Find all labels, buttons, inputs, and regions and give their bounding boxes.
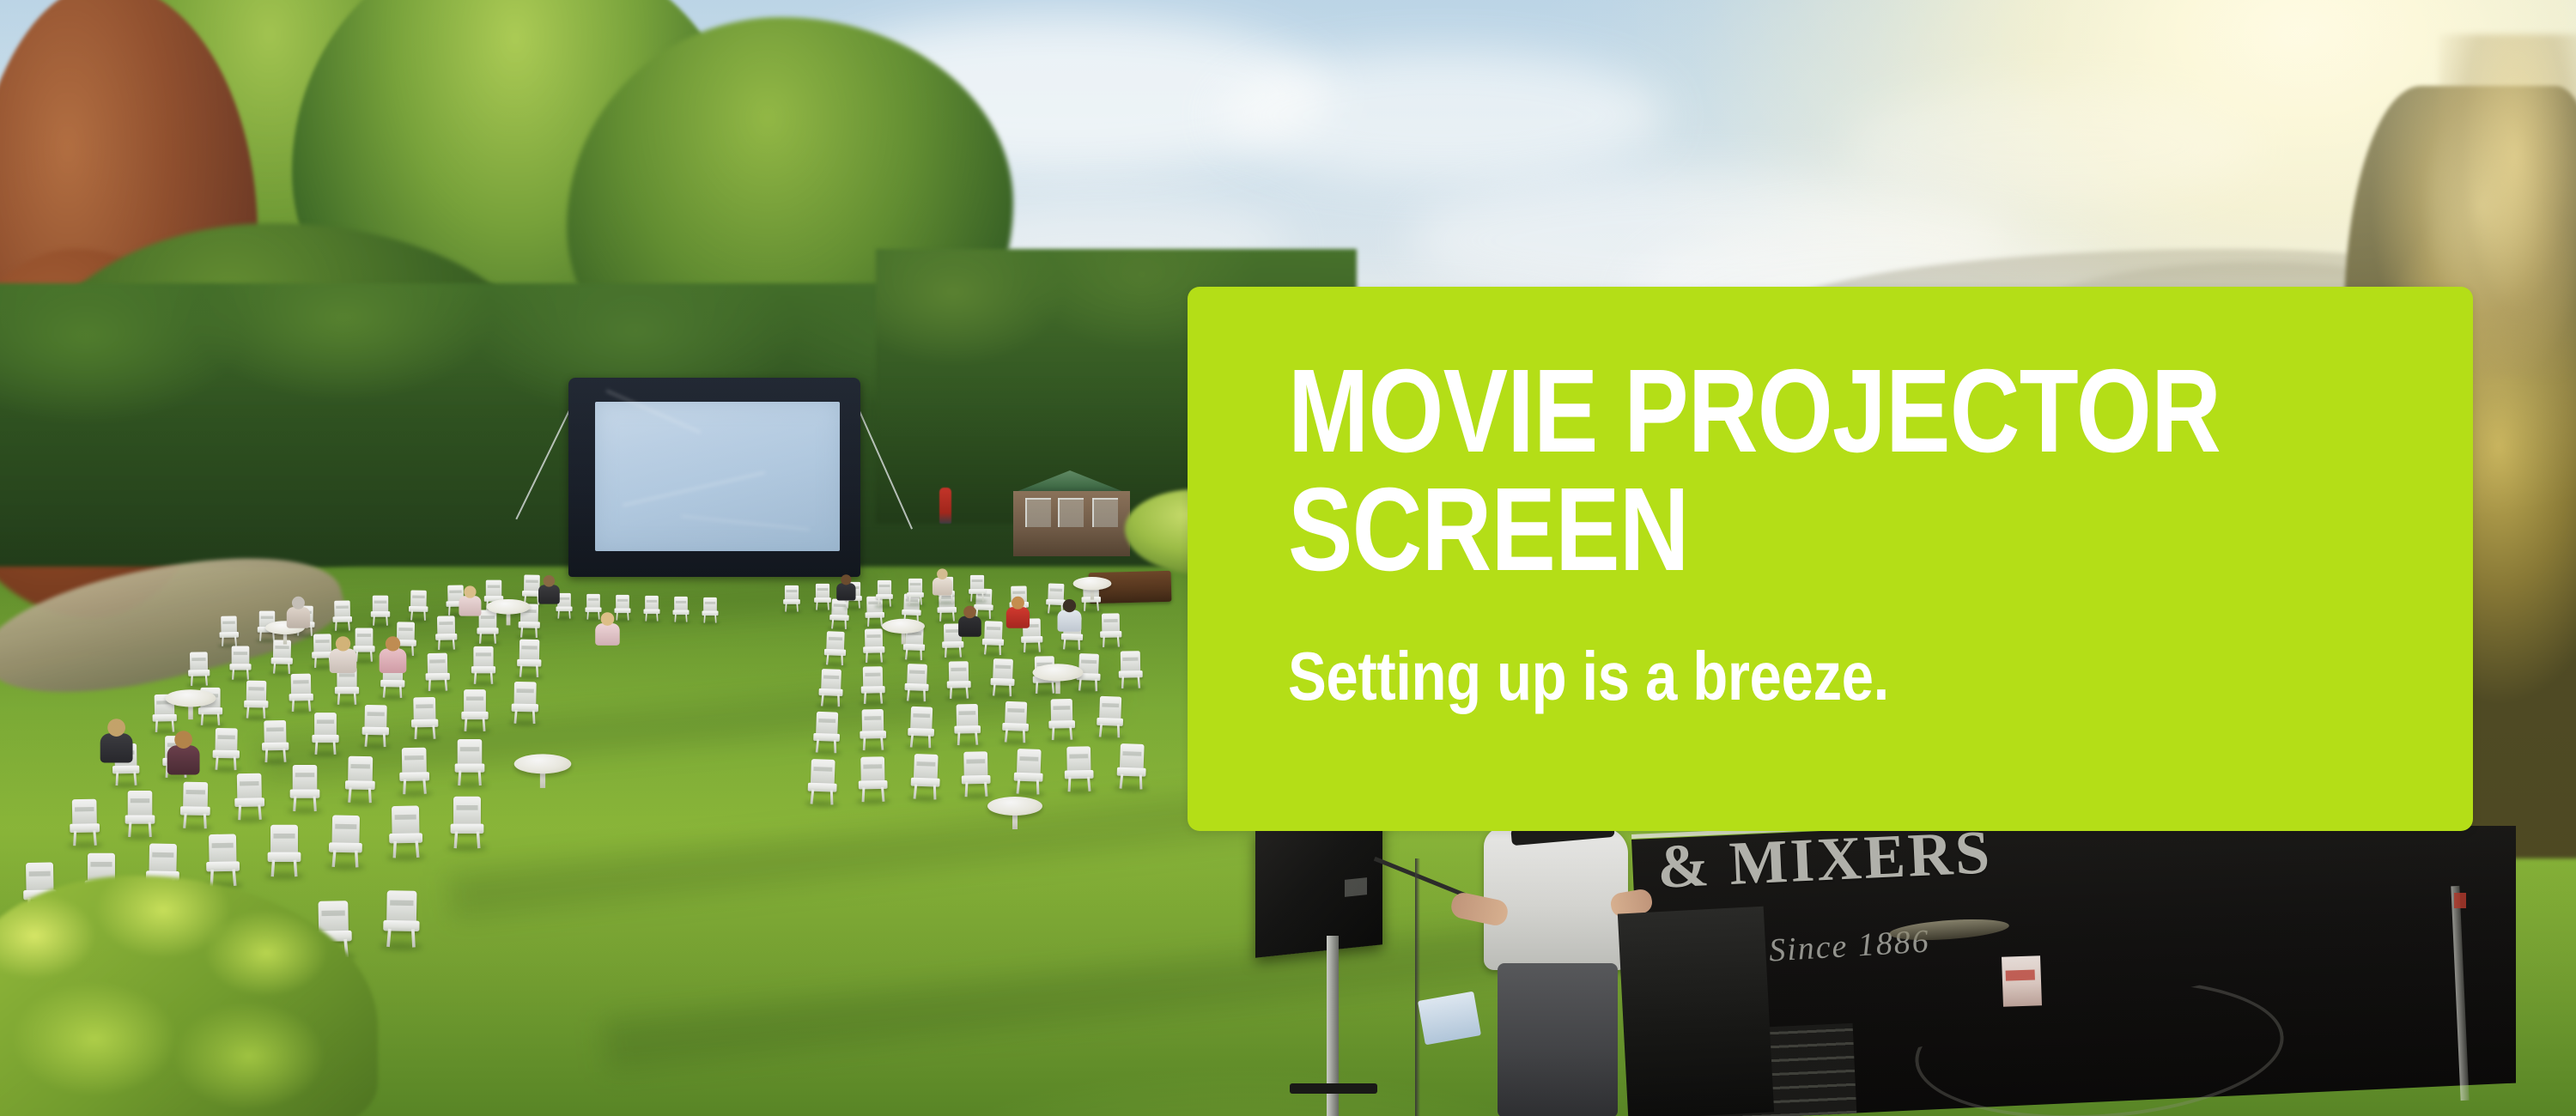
- chair-back: [215, 728, 237, 752]
- chair-leg: [1117, 725, 1120, 737]
- inflatable-movie-screen: [568, 378, 860, 577]
- chair-back: [703, 597, 717, 612]
- chair-leg: [951, 595, 952, 603]
- folding-chair: [290, 765, 320, 810]
- chair-leg: [536, 665, 538, 677]
- chair-back: [264, 720, 286, 744]
- chair-back: [221, 616, 237, 634]
- chair-back: [1017, 749, 1042, 775]
- guest-head: [601, 612, 615, 626]
- seated-guest: [957, 606, 981, 635]
- chair-leg: [490, 672, 493, 684]
- guest-head: [174, 731, 192, 749]
- chair-leg: [685, 614, 687, 622]
- chair-back: [914, 754, 939, 780]
- cocktail-table: [882, 619, 925, 646]
- chair-leg: [415, 840, 419, 858]
- page-title: MOVIE PROJECTOR SCREEN: [1288, 352, 2232, 589]
- guest-body: [1058, 610, 1082, 632]
- chair-leg: [217, 713, 220, 725]
- folding-chair: [946, 661, 971, 698]
- chair-back: [907, 664, 927, 685]
- chair-back: [645, 596, 659, 610]
- guest-body: [836, 583, 855, 600]
- chair-back: [993, 658, 1013, 680]
- chair-back: [473, 646, 493, 668]
- trailer-red-marker: [2454, 893, 2466, 908]
- chair-back: [355, 628, 374, 647]
- chair-leg: [1137, 676, 1140, 688]
- chair-back: [908, 579, 922, 593]
- folding-chair: [289, 674, 313, 712]
- guest-body: [167, 745, 200, 774]
- guest-body: [100, 733, 133, 762]
- chair-back: [1005, 701, 1027, 725]
- folding-chair: [860, 666, 885, 703]
- chair-back: [821, 669, 841, 690]
- chair-leg: [879, 692, 883, 704]
- chair-leg: [975, 731, 978, 744]
- folding-chair: [244, 681, 269, 719]
- guest-body: [958, 616, 981, 637]
- mic-stand-pole: [1415, 858, 1420, 1116]
- chair-leg: [928, 735, 931, 748]
- cocktail-table: [166, 689, 216, 721]
- folding-chair: [1118, 651, 1143, 688]
- folding-chair: [345, 756, 376, 803]
- guest-head: [292, 597, 305, 610]
- folding-chair: [981, 621, 1004, 654]
- chair-leg: [453, 639, 455, 650]
- seated-guest: [931, 568, 952, 594]
- chair-back: [1051, 699, 1073, 722]
- folding-chair: [399, 748, 430, 794]
- chair-leg: [1078, 639, 1080, 650]
- guest-head: [544, 575, 556, 587]
- chair-leg: [999, 644, 1001, 655]
- chair-leg: [1087, 777, 1091, 792]
- cocktail-table: [486, 599, 530, 627]
- chair-back: [149, 843, 177, 873]
- folding-chair: [229, 646, 251, 679]
- standing-person: [939, 488, 951, 524]
- chair-leg: [1038, 641, 1041, 652]
- chair-back: [970, 575, 984, 590]
- chair-back: [1121, 651, 1140, 672]
- chair-back: [183, 782, 208, 809]
- chair-leg: [627, 612, 629, 621]
- guest-head: [1063, 599, 1076, 612]
- shed-window: [1092, 498, 1118, 527]
- folding-chair: [1116, 743, 1146, 789]
- chair-leg: [133, 772, 137, 785]
- chair-back: [237, 773, 262, 800]
- chair-leg: [880, 652, 883, 663]
- screen-wrinkle: [623, 471, 765, 506]
- guest-head: [107, 719, 125, 737]
- folding-chair: [329, 815, 363, 866]
- folding-chair: [818, 669, 843, 707]
- chair-leg: [1095, 679, 1097, 691]
- chair-leg: [234, 756, 237, 770]
- bottle-label: [2002, 955, 2042, 1007]
- chair-back: [586, 594, 600, 609]
- chair-leg: [1069, 726, 1072, 739]
- chair-leg: [386, 616, 388, 625]
- chair-leg: [370, 651, 373, 662]
- chair-leg: [411, 645, 414, 656]
- seated-guest: [593, 612, 620, 644]
- guest-head: [937, 568, 948, 579]
- folding-chair: [1100, 613, 1122, 646]
- chair-back: [863, 666, 883, 688]
- seated-guest: [328, 636, 358, 671]
- chair-leg: [232, 869, 236, 886]
- chair-leg: [568, 610, 570, 619]
- folding-chair: [219, 616, 239, 646]
- folding-chair: [858, 756, 888, 801]
- engineer-trousers: [1498, 963, 1618, 1116]
- chair-back: [519, 640, 540, 661]
- folding-chair: [1064, 746, 1094, 791]
- folding-chair: [268, 825, 301, 876]
- seated-guest: [835, 574, 856, 599]
- chair-back: [1099, 696, 1121, 720]
- chair-back: [246, 681, 267, 702]
- chair-leg: [313, 797, 317, 812]
- chair-leg: [881, 787, 884, 802]
- chair-leg: [494, 633, 496, 644]
- chair-leg: [532, 710, 536, 724]
- chair-leg: [933, 785, 937, 800]
- chair-leg: [827, 602, 829, 610]
- chair-leg: [959, 646, 962, 658]
- chair-back: [319, 901, 349, 933]
- chair-leg: [714, 615, 716, 623]
- folding-chair: [807, 759, 837, 804]
- folding-chair: [188, 652, 210, 685]
- chair-leg: [423, 611, 426, 621]
- seated-guest: [285, 597, 311, 627]
- chair-leg: [830, 791, 834, 805]
- folding-chair: [1013, 749, 1043, 794]
- folding-chair: [783, 585, 800, 611]
- folding-chair: [904, 664, 929, 701]
- chair-leg: [920, 597, 921, 605]
- chair-leg: [841, 654, 843, 665]
- cocktail-table: [1033, 664, 1084, 695]
- chair-leg: [880, 737, 884, 749]
- folding-chair: [1048, 699, 1075, 739]
- chair-leg: [1139, 775, 1143, 790]
- chair-leg: [368, 788, 372, 803]
- chair-leg: [796, 603, 798, 612]
- folding-chair: [961, 751, 991, 796]
- chair-leg: [965, 687, 969, 699]
- chair-leg: [984, 782, 987, 797]
- chair-leg: [246, 669, 249, 680]
- chair-leg: [308, 699, 312, 711]
- chair-leg: [348, 621, 350, 630]
- page-subtitle: Setting up is a breeze.: [1288, 642, 2255, 711]
- chair-leg: [288, 663, 290, 674]
- chair-leg: [354, 693, 356, 705]
- chair-leg: [258, 804, 262, 820]
- chair-leg: [858, 600, 860, 609]
- chair-leg: [422, 779, 427, 794]
- chair-back: [826, 631, 844, 651]
- chair-back: [209, 834, 237, 864]
- chair-back: [413, 697, 435, 721]
- shed-roof: [999, 470, 1140, 493]
- chair-back: [428, 653, 448, 675]
- chair-leg: [411, 929, 416, 947]
- table-top: [882, 619, 925, 634]
- guest-head: [1012, 597, 1024, 610]
- chair-leg: [1023, 730, 1025, 743]
- folding-chair: [823, 631, 846, 664]
- chair-back: [616, 595, 629, 610]
- chair-leg: [981, 593, 983, 602]
- shed-window: [1025, 498, 1051, 527]
- folding-chair: [907, 579, 924, 604]
- chair-back: [26, 862, 54, 892]
- guest-body: [380, 648, 407, 673]
- folding-chair: [455, 739, 485, 785]
- chair-back: [860, 756, 884, 782]
- chair-back: [348, 756, 373, 783]
- chair-back: [334, 601, 350, 618]
- chair-leg: [399, 686, 402, 698]
- chair-back: [331, 815, 360, 845]
- table-top: [1033, 664, 1084, 681]
- chair-back: [963, 751, 987, 777]
- chair-back: [816, 584, 829, 598]
- guest-body: [330, 648, 357, 673]
- chair-back: [402, 748, 427, 774]
- chair-back: [1120, 743, 1145, 770]
- promo-panel: MOVIE PROJECTOR SCREEN Setting up is a b…: [1188, 287, 2473, 831]
- chair-back: [410, 591, 427, 608]
- chair-leg: [234, 636, 237, 646]
- folding-chair: [234, 773, 265, 820]
- folding-chair: [954, 704, 981, 744]
- chair-back: [1102, 613, 1120, 633]
- chair-leg: [204, 814, 207, 828]
- chair-leg: [149, 822, 152, 838]
- chair-back: [291, 674, 312, 695]
- chair-back: [386, 890, 416, 923]
- cocktail-table: [1073, 577, 1112, 601]
- folding-chair: [389, 805, 423, 857]
- chair-back: [190, 652, 208, 671]
- chair-back: [128, 791, 153, 817]
- chair-back: [392, 805, 420, 835]
- folding-chair: [332, 600, 352, 630]
- seated-guest: [165, 731, 200, 773]
- folding-chair: [814, 584, 831, 610]
- promo-panel-content: MOVIE PROJECTOR SCREEN Setting up is a b…: [1288, 352, 2439, 711]
- pa-speaker: [1255, 817, 1382, 958]
- chair-back: [910, 707, 933, 731]
- folding-chair: [312, 713, 338, 754]
- guest-body: [459, 596, 481, 616]
- folding-chair: [125, 791, 155, 836]
- chair-leg: [483, 718, 486, 731]
- folding-chair: [361, 705, 389, 746]
- shed-body: [1013, 491, 1130, 556]
- shed-window: [1058, 498, 1084, 527]
- table-top: [514, 754, 572, 773]
- guest-body: [595, 623, 620, 646]
- folding-chair: [643, 596, 659, 621]
- chair-back: [314, 713, 337, 737]
- table-top: [486, 599, 530, 615]
- chair-leg: [920, 649, 922, 660]
- chair-leg: [889, 598, 890, 607]
- av-equipment: [1618, 907, 1774, 1116]
- folding-chair: [990, 658, 1015, 696]
- guest-head: [963, 606, 976, 619]
- chair-back: [878, 580, 891, 595]
- chair-leg: [355, 851, 358, 868]
- folding-chair: [517, 640, 542, 677]
- folding-chair: [702, 597, 718, 622]
- folding-chair: [860, 709, 886, 749]
- screen-wrinkle: [681, 515, 809, 531]
- chair-leg: [205, 675, 208, 686]
- engineer-shirt: [1484, 828, 1628, 970]
- chair-back: [270, 825, 298, 854]
- cocktail-table: [514, 754, 572, 790]
- chair-back: [453, 797, 481, 826]
- guest-head: [386, 636, 400, 651]
- chair-leg: [383, 733, 386, 747]
- chair-back: [957, 704, 979, 727]
- chair-back: [72, 799, 97, 826]
- folding-chair: [425, 653, 450, 691]
- table-top: [987, 797, 1042, 816]
- chair-back: [1048, 583, 1064, 600]
- chair-leg: [535, 627, 538, 638]
- chair-leg: [294, 860, 298, 877]
- folding-chair: [461, 689, 488, 731]
- chair-leg: [333, 741, 337, 755]
- chair-leg: [656, 613, 658, 622]
- chair-leg: [845, 620, 847, 629]
- chair-leg: [834, 740, 836, 753]
- chair-back: [458, 739, 483, 766]
- folding-chair: [876, 580, 893, 606]
- folding-chair: [813, 712, 841, 753]
- chair-leg: [989, 610, 991, 619]
- folding-chair: [262, 720, 289, 761]
- guest-body: [538, 585, 560, 603]
- table-top: [166, 689, 216, 707]
- chair-back: [293, 765, 318, 792]
- chair-back: [464, 689, 486, 713]
- folding-chair: [969, 575, 986, 601]
- cocktail-table: [987, 797, 1042, 831]
- guest-head: [336, 636, 350, 651]
- folding-chair: [511, 682, 538, 723]
- chair-back: [513, 682, 536, 706]
- chair-leg: [263, 707, 265, 719]
- seated-guest: [98, 719, 133, 761]
- chair-back: [949, 661, 969, 682]
- guest-body: [933, 578, 952, 596]
- folding-chair: [371, 596, 390, 625]
- seated-guest: [537, 575, 560, 603]
- chair-leg: [432, 725, 435, 739]
- guest-head: [841, 574, 851, 585]
- folding-chair: [672, 597, 689, 622]
- chair-back: [437, 616, 455, 635]
- seated-guest: [458, 585, 483, 615]
- chair-back: [816, 712, 838, 736]
- folding-chair: [451, 797, 484, 847]
- folding-chair: [409, 590, 428, 620]
- folding-chair: [411, 697, 439, 738]
- chair-back: [674, 597, 688, 611]
- folding-chair: [70, 799, 100, 846]
- chair-leg: [478, 771, 482, 786]
- cloud: [1846, 86, 2258, 206]
- chair-leg: [1097, 601, 1099, 610]
- seated-guest: [1056, 599, 1083, 630]
- folding-chair: [910, 754, 940, 799]
- chair-leg: [445, 678, 448, 690]
- chair-back: [865, 628, 883, 648]
- chair-leg: [1036, 780, 1040, 795]
- screen-surface: [595, 402, 840, 551]
- chair-back: [785, 585, 799, 600]
- garden-shed: [1006, 470, 1133, 556]
- chair-back: [862, 709, 884, 732]
- seated-guest: [1005, 597, 1030, 627]
- chair-leg: [952, 611, 955, 621]
- table-top: [1073, 577, 1112, 590]
- chair-leg: [837, 694, 840, 707]
- chair-leg: [93, 830, 97, 846]
- chair-back: [364, 705, 386, 729]
- guest-body: [1006, 607, 1030, 628]
- folding-chair: [1002, 701, 1030, 743]
- chair-leg: [923, 689, 926, 701]
- seated-guest: [378, 636, 408, 671]
- guest-head: [464, 585, 476, 597]
- cloud: [1219, 52, 1666, 180]
- folding-chair: [435, 616, 458, 649]
- folding-chair: [383, 890, 420, 946]
- chair-back: [486, 580, 501, 597]
- chair-back: [1066, 746, 1091, 772]
- chair-leg: [477, 832, 481, 849]
- chair-leg: [1009, 684, 1012, 696]
- folding-chair: [212, 728, 240, 769]
- folding-chair: [471, 646, 495, 683]
- folding-chair: [206, 834, 240, 885]
- guest-body: [287, 607, 310, 628]
- chair-leg: [283, 749, 286, 762]
- sound-engineer: [1477, 824, 1631, 1116]
- chair-leg: [1117, 636, 1120, 647]
- chair-back: [373, 596, 388, 613]
- speaker-stand-base: [1290, 1083, 1377, 1094]
- hero-banner: & MIXERS Since 1886 MOVIE PROJECTOR SCRE…: [0, 0, 2576, 1116]
- folding-chair: [1097, 696, 1124, 737]
- chair-back: [811, 759, 835, 785]
